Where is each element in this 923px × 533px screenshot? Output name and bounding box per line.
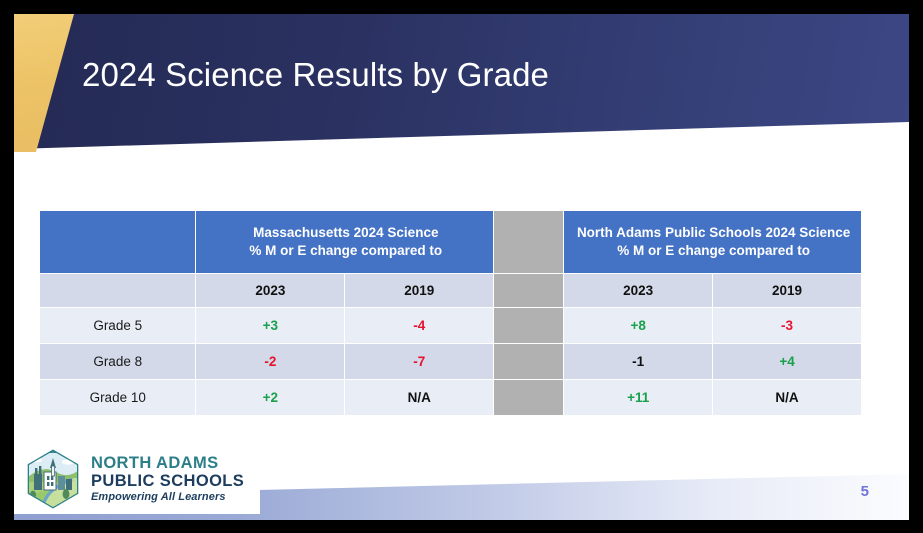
science-results-table: Massachusetts 2024 Science % M or E chan… (39, 210, 862, 416)
table-body: Grade 5 +3 -4 +8 -3 Grade 8 -2 -7 -1 +4 (40, 308, 861, 415)
district-logo-text: NORTH ADAMS PUBLIC SCHOOLS Empowering Al… (91, 455, 244, 503)
row-label-grade-8: Grade 8 (40, 344, 195, 379)
results-table-wrapper: Massachusetts 2024 Science % M or E chan… (39, 210, 862, 416)
cell-grade10-naps-2023: +11 (564, 380, 712, 415)
cell-grade5-ma-2023: +3 (196, 308, 344, 343)
year-header-ma-2019: 2019 (345, 274, 493, 307)
year-header-row: 2023 2019 2023 2019 (40, 274, 861, 307)
group-header-massachusetts-line1: Massachusetts 2024 Science (202, 224, 489, 242)
cell-grade8-naps-2019: +4 (713, 344, 861, 379)
cell-grade10-naps-2019: N/A (713, 380, 861, 415)
year-header-naps-2019: 2019 (713, 274, 861, 307)
year-header-blank (40, 274, 195, 307)
table-row: Grade 8 -2 -7 -1 +4 (40, 344, 861, 379)
district-logo: NORTH ADAMS PUBLIC SCHOOLS Empowering Al… (14, 444, 260, 514)
year-header-ma-2023: 2023 (196, 274, 344, 307)
cell-grade8-ma-2023: -2 (196, 344, 344, 379)
group-header-north-adams-line1: North Adams Public Schools 2024 Science (570, 224, 857, 242)
cell-grade10-ma-2023: +2 (196, 380, 344, 415)
slide-viewer: 2024 Science Results by Grade Massachu (0, 0, 923, 533)
row-label-grade-10: Grade 10 (40, 380, 195, 415)
separator-cell-grade8 (494, 344, 563, 379)
page-title: 2024 Science Results by Grade (82, 56, 549, 94)
table-corner-cell (40, 211, 195, 273)
group-header-north-adams-line2: % M or E change compared to (570, 242, 857, 260)
logo-line-2: PUBLIC SCHOOLS (91, 473, 244, 490)
table-row: Grade 10 +2 N/A +11 N/A (40, 380, 861, 415)
separator-cell-grade10 (494, 380, 563, 415)
row-label-grade-5: Grade 5 (40, 308, 195, 343)
page-number: 5 (861, 483, 869, 500)
separator-cell-years (494, 274, 563, 307)
cell-grade8-ma-2019: -7 (345, 344, 493, 379)
separator-cell-header (494, 211, 563, 273)
presentation-slide: 2024 Science Results by Grade Massachu (14, 14, 909, 520)
cell-grade5-ma-2019: -4 (345, 308, 493, 343)
cell-grade10-ma-2019: N/A (345, 380, 493, 415)
cell-grade8-naps-2023: -1 (564, 344, 712, 379)
group-header-north-adams: North Adams Public Schools 2024 Science … (564, 211, 861, 273)
separator-cell-grade5 (494, 308, 563, 343)
table-row: Grade 5 +3 -4 +8 -3 (40, 308, 861, 343)
table-head: Massachusetts 2024 Science % M or E chan… (40, 211, 861, 307)
year-header-naps-2023: 2023 (564, 274, 712, 307)
logo-tagline: Empowering All Learners (91, 492, 244, 503)
group-header-row: Massachusetts 2024 Science % M or E chan… (40, 211, 861, 273)
group-header-massachusetts-line2: % M or E change compared to (202, 242, 489, 260)
hexagon-campus-emblem-icon (22, 448, 84, 510)
cell-grade5-naps-2023: +8 (564, 308, 712, 343)
logo-line-1: NORTH ADAMS (91, 455, 244, 472)
group-header-massachusetts: Massachusetts 2024 Science % M or E chan… (196, 211, 493, 273)
cell-grade5-naps-2019: -3 (713, 308, 861, 343)
